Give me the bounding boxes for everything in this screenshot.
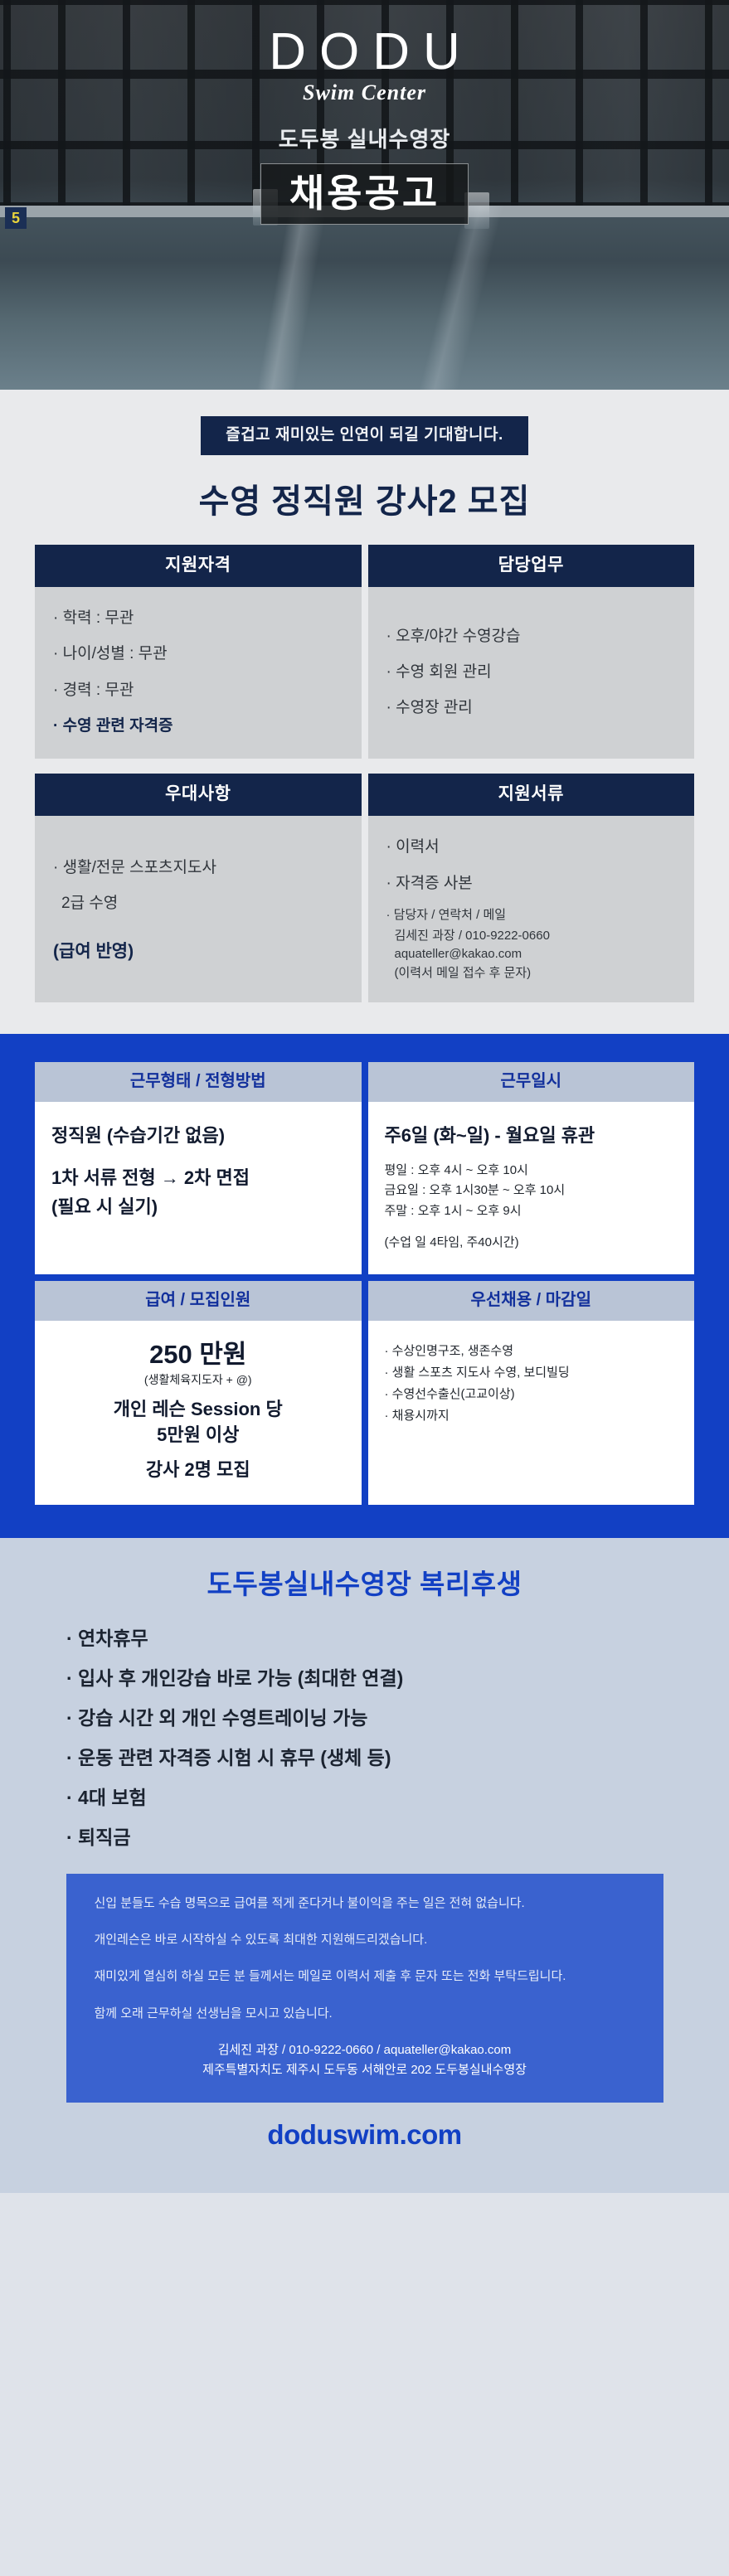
schedule-row: 평일 : 오후 4시 ~ 오후 10시 (385, 1161, 678, 1181)
schedule-row: 주말 : 오후 1시 ~ 오후 9시 (385, 1201, 678, 1221)
list-item: · 오후/야간 수영강습 (386, 623, 677, 649)
list-item: · 퇴직금 (66, 1828, 694, 1847)
pay-session-line: 개인 레슨 Session 당 (51, 1396, 345, 1423)
list-item: · 연차휴무 (66, 1629, 694, 1648)
list-item: · 수영장 관리 (386, 695, 677, 720)
grid-row-gap (0, 759, 729, 774)
message-paragraph: 함께 오래 근무하실 선생님을 모시고 있습니다. (95, 2004, 635, 2024)
hero-banner: 5 DODU Swim Center 도두봉 실내수영장 채용공고 (0, 0, 729, 390)
list-item: · 생활 스포츠 지도사 수영, 보디빌딩 (385, 1362, 678, 1384)
list-item: · 생활/전문 스포츠지도사 (53, 855, 343, 880)
contact-person: 김세진 과장 / 010-9222-0660 (386, 927, 677, 946)
card-work-type: 근무형태 / 전형방법 정직원 (수습기간 없음) 1차 서류 전형 → 2차 … (35, 1062, 362, 1274)
card-pay: 급여 / 모집인원 250 만원 (생활체육지도자 + @) 개인 레슨 Ses… (35, 1281, 362, 1505)
message-paragraph: 개인레슨은 바로 시작하실 수 있도록 최대한 지원해드리겠습니다. (95, 1930, 635, 1950)
card-schedule: 근무일시 주6일 (화~일) - 월요일 휴관 평일 : 오후 4시 ~ 오후 … (368, 1062, 695, 1274)
conditions-section: 근무형태 / 전형방법 정직원 (수습기간 없음) 1차 서류 전형 → 2차 … (0, 1034, 729, 1538)
work-type-line: 정직원 (수습기간 없음) (51, 1122, 345, 1149)
list-item: · 채용시까지 (385, 1405, 678, 1427)
job-posting-poster: 5 DODU Swim Center 도두봉 실내수영장 채용공고 즐겁고 재미… (0, 0, 729, 2576)
card-work-type-header: 근무형태 / 전형방법 (35, 1062, 362, 1102)
selection-process-note: (필요 시 실기) (51, 1193, 345, 1220)
tagline-banner: 즐겁고 재미있는 인연이 되길 기대합니다. (201, 416, 528, 455)
list-item-highlight: · 수영 관련 자격증 (53, 713, 343, 739)
dodu-logo-wordmark: DODU (0, 28, 729, 77)
benefits-title: 도두봉실내수영장 복리후생 (0, 1568, 729, 1601)
footer-address-line: 제주특별자치도 제주시 도두동 서해안로 202 도두봉실내수영장 (95, 2060, 635, 2080)
card-preferred-header: 우대사항 (35, 774, 362, 816)
schedule-headline: 주6일 (화~일) - 월요일 휴관 (385, 1122, 678, 1149)
facility-name: 도두봉 실내수영장 (0, 129, 729, 150)
headcount-line: 강사 2명 모집 (51, 1457, 345, 1483)
card-preferred-body: · 생활/전문 스포츠지도사 2급 수영 (급여 반영) (35, 816, 362, 1002)
card-duties-header: 담당업무 (368, 545, 695, 587)
schedule-note: (수업 일 4타임, 주40시간) (385, 1233, 678, 1253)
website-link[interactable]: doduswim.com (0, 2121, 729, 2148)
card-priority-header: 우선채용 / 마감일 (368, 1281, 695, 1321)
list-item: · 입사 후 개인강습 바로 가능 (최대한 연결) (66, 1669, 694, 1688)
contact-email[interactable]: aquateller@kakao.com (386, 945, 677, 964)
list-item: · 운동 관련 자격증 시험 시 휴무 (생체 등) (66, 1749, 694, 1768)
pay-amount-note: (생활체육지도자 + @) (51, 1372, 345, 1387)
list-item: · 수상인명구조, 생존수영 (385, 1341, 678, 1362)
list-item: · 강습 시간 외 개인 수영트레이닝 가능 (66, 1709, 694, 1728)
card-preferred: 우대사항 · 생활/전문 스포츠지도사 2급 수영 (급여 반영) (35, 774, 362, 1002)
benefits-list: · 연차휴무 · 입사 후 개인강습 바로 가능 (최대한 연결) · 강습 시… (35, 1629, 694, 1847)
card-schedule-body: 주6일 (화~일) - 월요일 휴관 평일 : 오후 4시 ~ 오후 10시 금… (368, 1102, 695, 1274)
swim-center-logo-sub: Swim Center (0, 82, 729, 104)
preferred-note: (급여 반영) (53, 941, 343, 962)
card-schedule-header: 근무일시 (368, 1062, 695, 1102)
card-qualification-header: 지원자격 (35, 545, 362, 587)
list-item: · 이력서 (386, 834, 677, 860)
page-title: 수영 정직원 강사2 모집 (0, 483, 729, 520)
conditions-grid: 근무형태 / 전형방법 정직원 (수습기간 없음) 1차 서류 전형 → 2차 … (35, 1062, 694, 1505)
card-qualification-body: · 학력 : 무관 · 나이/성별 : 무관 · 경력 : 무관 · 수영 관련… (35, 587, 362, 759)
card-pay-body: 250 만원 (생활체육지도자 + @) 개인 레슨 Session 당 5만원… (35, 1321, 362, 1505)
info-grid-row-1: 지원자격 · 학력 : 무관 · 나이/성별 : 무관 · 경력 : 무관 · … (35, 545, 694, 759)
card-documents: 지원서류 · 이력서 · 자격증 사본 · 담당자 / 연락처 / 메일 김세진… (368, 774, 695, 1002)
schedule-row: 금요일 : 오후 1시30분 ~ 오후 10시 (385, 1181, 678, 1201)
card-work-type-body: 정직원 (수습기간 없음) 1차 서류 전형 → 2차 면접 (필요 시 실기) (35, 1102, 362, 1274)
pay-session-amount: 5만원 이상 (51, 1422, 345, 1448)
list-item: · 학력 : 무관 (53, 605, 343, 631)
info-grid-row-2: 우대사항 · 생활/전문 스포츠지도사 2급 수영 (급여 반영) 지원서류 ·… (35, 774, 694, 1002)
closing-message-box: 신입 분들도 수습 명목으로 급여를 적게 준다거나 불이익을 주는 일은 전혀… (66, 1874, 663, 2103)
list-item: · 4대 보험 (66, 1788, 694, 1807)
message-paragraph: 재미있게 열심히 하실 모든 분 들께서는 메일로 이력서 제출 후 문자 또는… (95, 1967, 635, 1987)
list-item: · 수영선수출신(고교이상) (385, 1384, 678, 1405)
list-item: · 나이/성별 : 무관 (53, 641, 343, 667)
benefits-section: 도두봉실내수영장 복리후생 · 연차휴무 · 입사 후 개인강습 바로 가능 (… (0, 1538, 729, 2192)
card-duties: 담당업무 · 오후/야간 수영강습 · 수영 회원 관리 · 수영장 관리 (368, 545, 695, 759)
recruitment-overview-section: 즐겁고 재미있는 인연이 되길 기대합니다. 수영 정직원 강사2 모집 지원자… (0, 390, 729, 1034)
card-priority-body: · 수상인명구조, 생존수영 · 생활 스포츠 지도사 수영, 보디빌딩 · 수… (368, 1321, 695, 1505)
bottom-spacer (0, 2148, 729, 2168)
card-qualification: 지원자격 · 학력 : 무관 · 나이/성별 : 무관 · 경력 : 무관 · … (35, 545, 362, 759)
tagline-wrapper: 즐겁고 재미있는 인연이 되길 기대합니다. (0, 416, 729, 455)
card-pay-header: 급여 / 모집인원 (35, 1281, 362, 1321)
list-item-continuation: 2급 수영 (53, 890, 343, 916)
list-item: · 수영 회원 관리 (386, 659, 677, 685)
card-documents-body: · 이력서 · 자격증 사본 · 담당자 / 연락처 / 메일 김세진 과장 /… (368, 816, 695, 1002)
card-duties-body: · 오후/야간 수영강습 · 수영 회원 관리 · 수영장 관리 (368, 587, 695, 759)
card-priority: 우선채용 / 마감일 · 수상인명구조, 생존수영 · 생활 스포츠 지도사 수… (368, 1281, 695, 1505)
list-item: · 자격증 사본 (386, 871, 677, 896)
list-item: · 경력 : 무관 (53, 677, 343, 703)
footer-contact-line[interactable]: 김세진 과장 / 010-9222-0660 / aquateller@kaka… (95, 2040, 635, 2060)
message-paragraph: 신입 분들도 수습 명목으로 급여를 적게 준다거나 불이익을 주는 일은 전혀… (95, 1894, 635, 1914)
card-documents-header: 지원서류 (368, 774, 695, 816)
recruitment-badge: 채용공고 (260, 163, 469, 225)
contact-label: · 담당자 / 연락처 / 메일 (386, 906, 677, 925)
pay-amount: 250 만원 (51, 1341, 345, 1369)
selection-process-line: 1차 서류 전형 → 2차 면접 (51, 1164, 345, 1191)
contact-note: (이력서 메일 접수 후 문자) (386, 964, 677, 983)
